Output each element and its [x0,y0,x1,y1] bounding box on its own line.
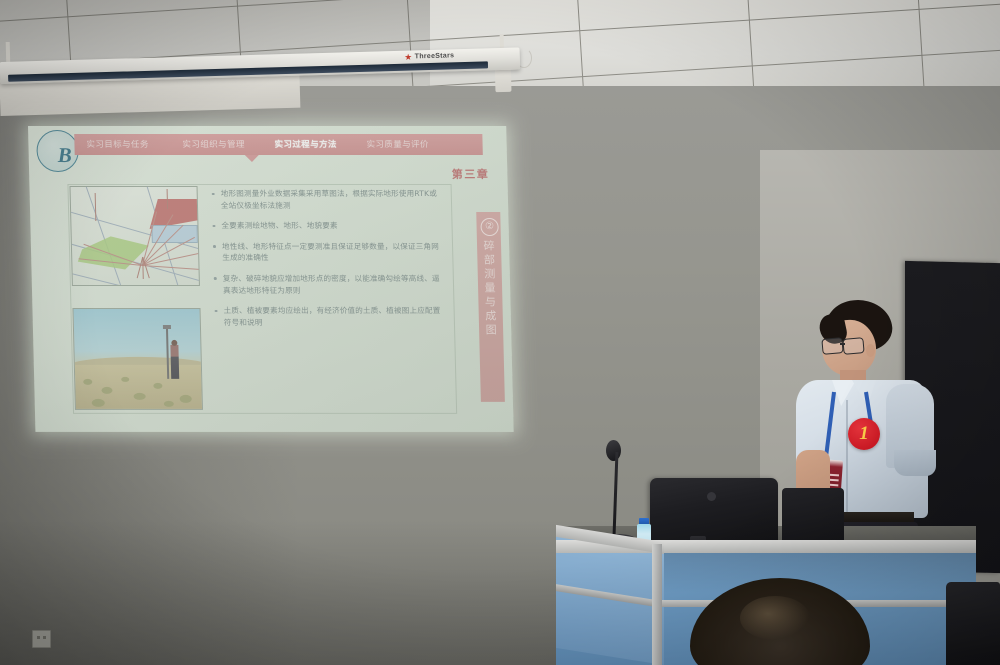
slide-bullet-list: 地形图测量外业数据采集采用草图法，根据实际地形使用RTK或全站仪极坐标法施测 全… [210,188,446,337]
field-survey-photo [72,308,203,410]
bullet-item: 复杂、破碎地貌应增加地形点的密度，以能准确勾绘等高线、逼真表达地形特征为原则 [212,273,445,296]
microphone-head-icon [606,440,621,461]
bullet-item: 地形图测量外业数据采集采用草图法，根据实际地形使用RTK或全站仪极坐标法施测 [210,188,443,211]
glasses-bridge-icon [840,343,845,345]
glasses-lens-left-icon [821,337,843,355]
slide-chapter-heading: 第三章 [452,166,490,182]
gps-antenna [163,325,171,329]
university-logo-icon: B [36,130,79,172]
active-tab-arrow-icon [245,155,259,162]
bullet-item: 土质、植被要素均应绘出，有经济价值的土质、植被图上应配置符号和说明 [212,305,445,328]
gps-pole [166,327,169,379]
audience-chair[interactable] [946,582,1000,665]
threestars-logo-icon [405,53,412,60]
bullet-item: 地性线、地形特征点一定要测准且保证足够数量，以保证三角网生成的准确性 [211,241,444,264]
monitor-logo-icon [707,492,716,501]
shirt-placket [846,400,848,512]
section-number-badge: ② [480,218,498,236]
audience-hair-highlight [740,596,810,640]
logo-glyph: B [57,143,76,168]
wall-shadow-bottom [0,520,620,665]
glasses-lens-right-icon [842,337,864,355]
podium-corner-trim [652,544,662,665]
bullet-item: 全要素测绘地物、地形、地貌要素 [210,220,442,232]
survey-diagram-image [69,186,199,286]
slide-tab-4[interactable]: 实习质量与评价 [366,138,429,150]
screen-brand-label: ThreeStars [415,52,455,60]
slide-section-side-tab: ② 碎部测量与成图 [476,212,505,402]
photo-surveyor [170,345,179,379]
wall-power-outlet[interactable] [32,630,51,648]
presentation-slide: B 实习目标与任务 实习组织与管理 实习过程与方法 实习质量与评价 第三章 [28,126,514,432]
slide-nav-bar: 实习目标与任务 实习组织与管理 实习过程与方法 实习质量与评价 [74,134,483,155]
slide-tab-2[interactable]: 实习组织与管理 [182,138,245,150]
presenter-ear [866,344,875,357]
classroom-scene: ThreeStars B 实习目标与任务 实习组织与管理 实习过程与方法 实习质… [0,0,1000,665]
presenter-sleeve [894,450,936,476]
number-badge-label: 1 [848,418,880,450]
slide-tab-3-active[interactable]: 实习过程与方法 [274,138,337,150]
number-badge: 1 [848,418,880,450]
section-vertical-title: 碎部测量与成图 [482,240,498,338]
survey-tripod-icon [134,257,151,279]
slide-tab-1[interactable]: 实习目标与任务 [86,138,149,150]
projected-slide-area: B 实习目标与任务 实习组织与管理 实习过程与方法 实习质量与评价 第三章 [28,126,514,432]
photo-surveyor-head [171,340,177,346]
